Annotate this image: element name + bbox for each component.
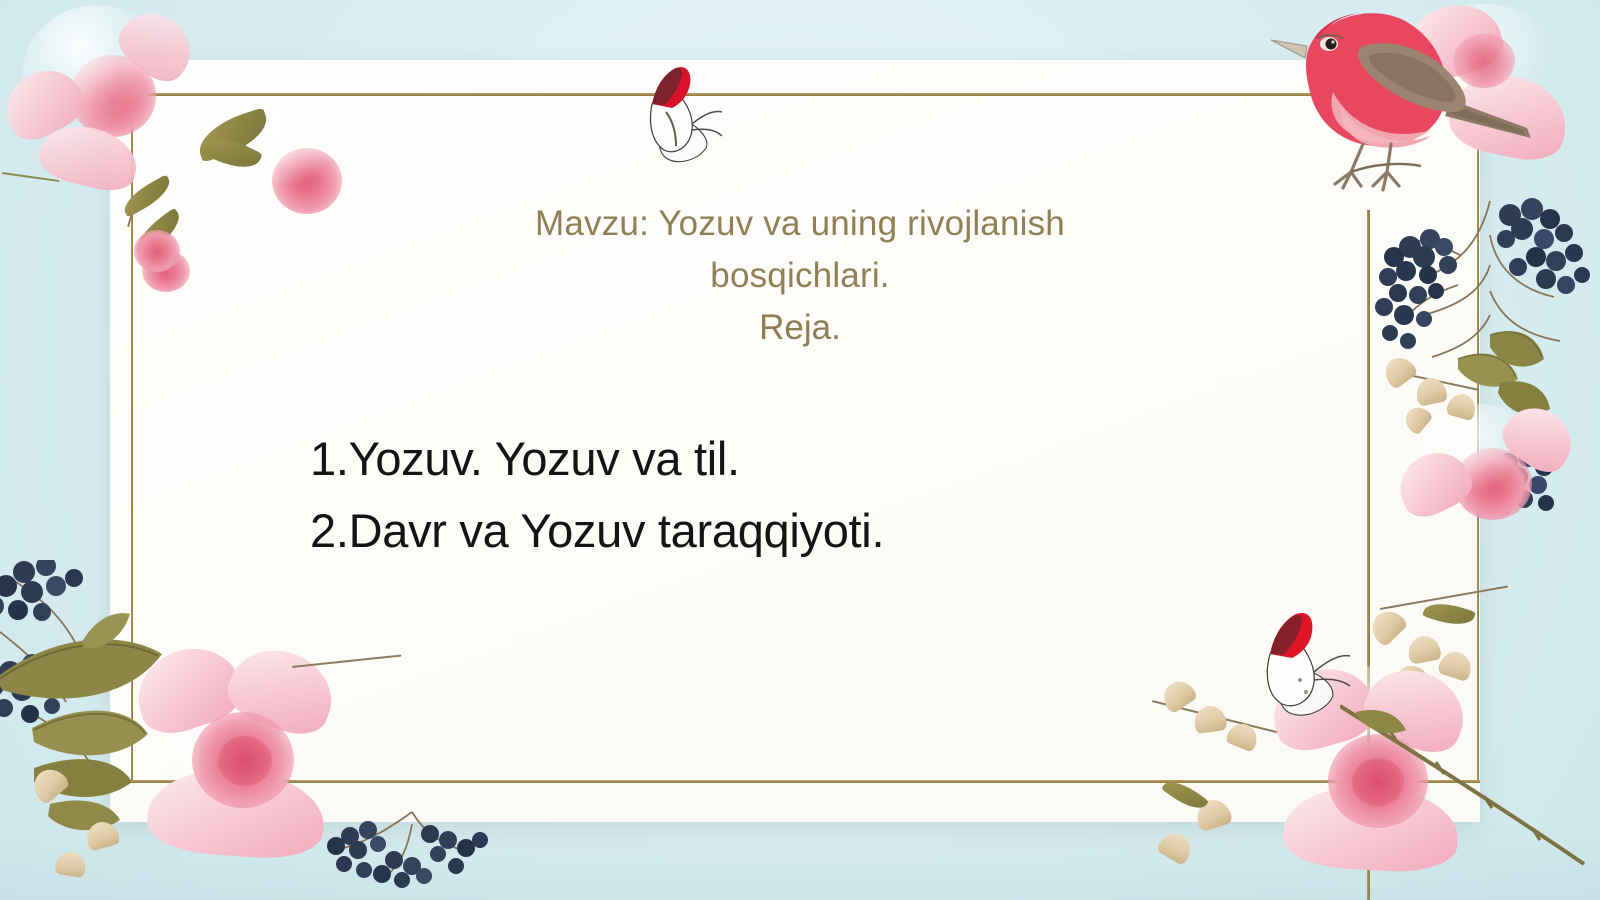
- agenda-list: 1.Yozuv. Yozuv va til. 2.Davr va Yozuv t…: [310, 423, 884, 567]
- frame-line-left: [131, 93, 133, 780]
- list-item: 1.Yozuv. Yozuv va til.: [310, 423, 884, 495]
- frame-line-right-inner: [1367, 210, 1370, 900]
- frame-line-top: [110, 93, 1480, 96]
- slide-subtitle: Reja.: [759, 305, 841, 351]
- slide-title: Mavzu: Yozuv va uning rivojlanish bosqic…: [450, 198, 1150, 302]
- butterfly-icon: [622, 58, 742, 168]
- frame-line-right: [1477, 93, 1479, 780]
- list-item: 2.Davr va Yozuv taraqqiyoti.: [310, 495, 884, 567]
- butterfly-top-center: [622, 58, 742, 168]
- background-bottom-gradient: [0, 820, 1600, 900]
- frame-line-bottom: [110, 780, 1480, 783]
